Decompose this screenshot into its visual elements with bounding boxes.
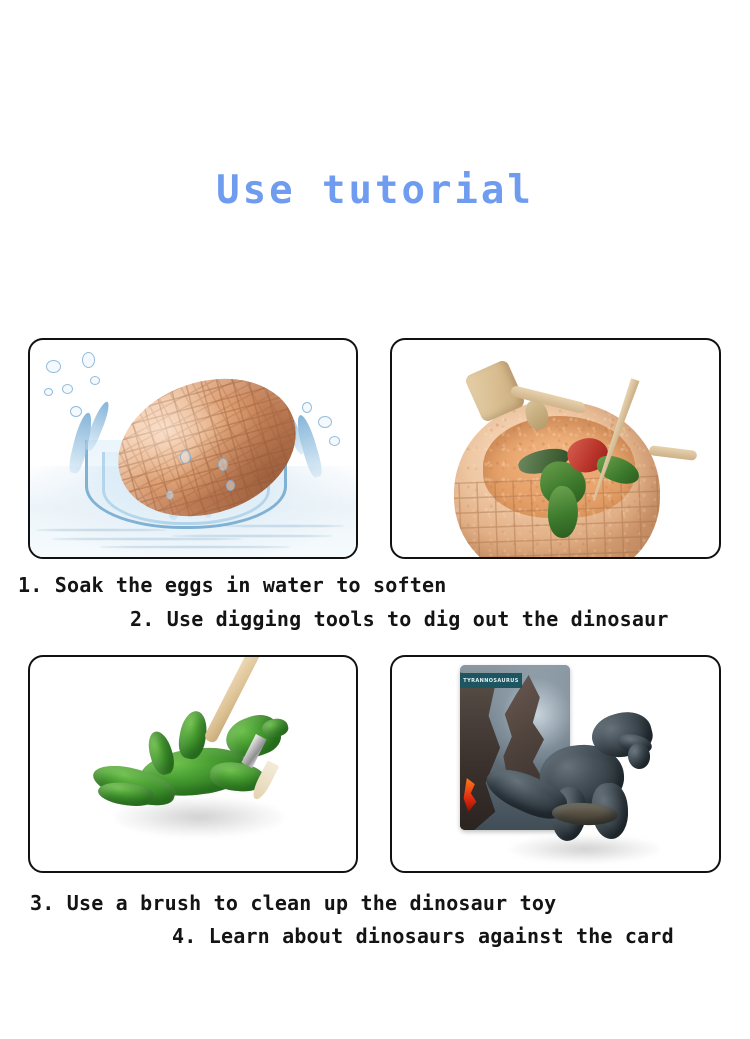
soak-egg-scene: [30, 340, 356, 557]
dig-out-photo: [390, 338, 721, 559]
dig-out-scene: [392, 340, 719, 557]
water-ripple: [224, 525, 344, 527]
step-1-caption: 1. Soak the eggs in water to soften: [18, 572, 446, 598]
water-bubble: [318, 416, 332, 428]
water-droplet: [218, 458, 228, 471]
water-droplet: [226, 480, 235, 491]
water-bubble: [302, 402, 312, 413]
step-3-caption: 3. Use a brush to clean up the dinosaur …: [30, 890, 556, 916]
water-ripple: [172, 535, 332, 537]
step-2-caption: 2. Use digging tools to dig out the dino…: [130, 606, 669, 632]
page-title: Use tutorial: [0, 168, 750, 214]
brush-clean-scene: [30, 657, 356, 871]
water-bubble: [44, 388, 53, 396]
water-bubble: [90, 376, 100, 385]
learn-card-photo: TYRANNOSAURUS: [390, 655, 721, 873]
learn-card-scene: TYRANNOSAURUS: [392, 657, 719, 871]
water-bubble: [62, 384, 73, 394]
water-bubble: [70, 406, 82, 417]
water-bubble: [82, 352, 95, 368]
soak-egg-photo: [28, 338, 358, 559]
step-4-caption: 4. Learn about dinosaurs against the car…: [172, 923, 674, 949]
water-droplet: [180, 450, 191, 464]
water-bubble: [46, 360, 61, 373]
water-bubble: [329, 436, 340, 446]
figure-shadow: [510, 835, 660, 863]
card-species-label-bar: TYRANNOSAURUS: [460, 673, 522, 688]
water-ripple: [100, 546, 290, 548]
brush-clean-photo: [28, 655, 358, 873]
water-droplet: [166, 490, 174, 500]
water-ripple: [52, 538, 242, 540]
card-species-label: TYRANNOSAURUS: [463, 678, 518, 684]
